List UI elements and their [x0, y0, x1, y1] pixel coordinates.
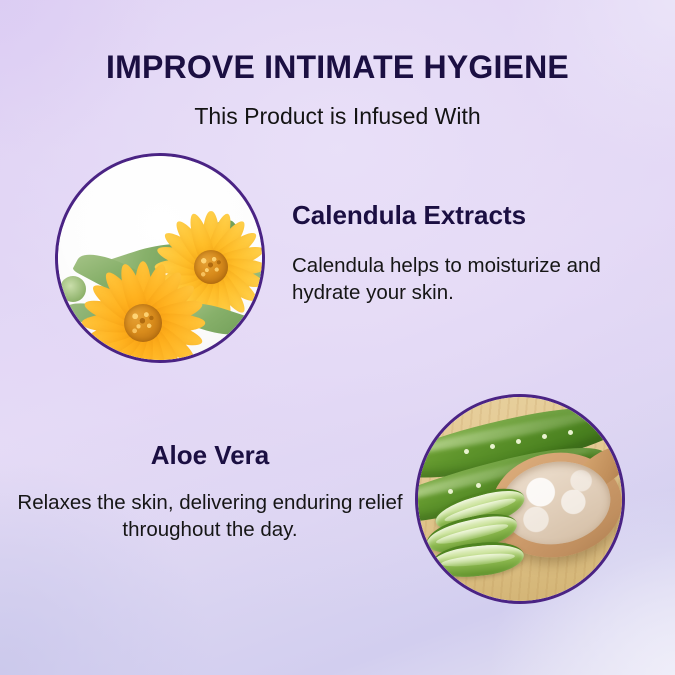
calendula-description: Calendula helps to moisturize and hydrat… — [292, 252, 667, 306]
aloe-thorn-icon — [516, 439, 521, 444]
page-subtitle: This Product is Infused With — [0, 103, 675, 130]
aloe-image-inner — [418, 397, 622, 601]
aloe-thorn-icon — [448, 489, 453, 494]
aloe-description: Relaxes the skin, delivering enduring re… — [0, 489, 420, 543]
page-title: IMPROVE INTIMATE HYGIENE — [0, 49, 675, 86]
aloe-vera-gel-photo — [415, 394, 625, 604]
calendula-image-inner — [58, 156, 262, 360]
aloe-thorn-icon — [542, 434, 547, 439]
calendula-heading: Calendula Extracts — [292, 200, 526, 231]
calendula-flowers-photo — [55, 153, 265, 363]
product-benefits-poster: IMPROVE INTIMATE HYGIENE This Product is… — [0, 0, 675, 675]
aloe-thorn-icon — [476, 483, 481, 488]
aloe-heading: Aloe Vera — [0, 440, 420, 471]
aloe-thorn-icon — [568, 430, 573, 435]
aloe-thorn-icon — [490, 444, 495, 449]
calendula-flower-icon — [80, 260, 206, 360]
flower-center — [124, 304, 162, 342]
